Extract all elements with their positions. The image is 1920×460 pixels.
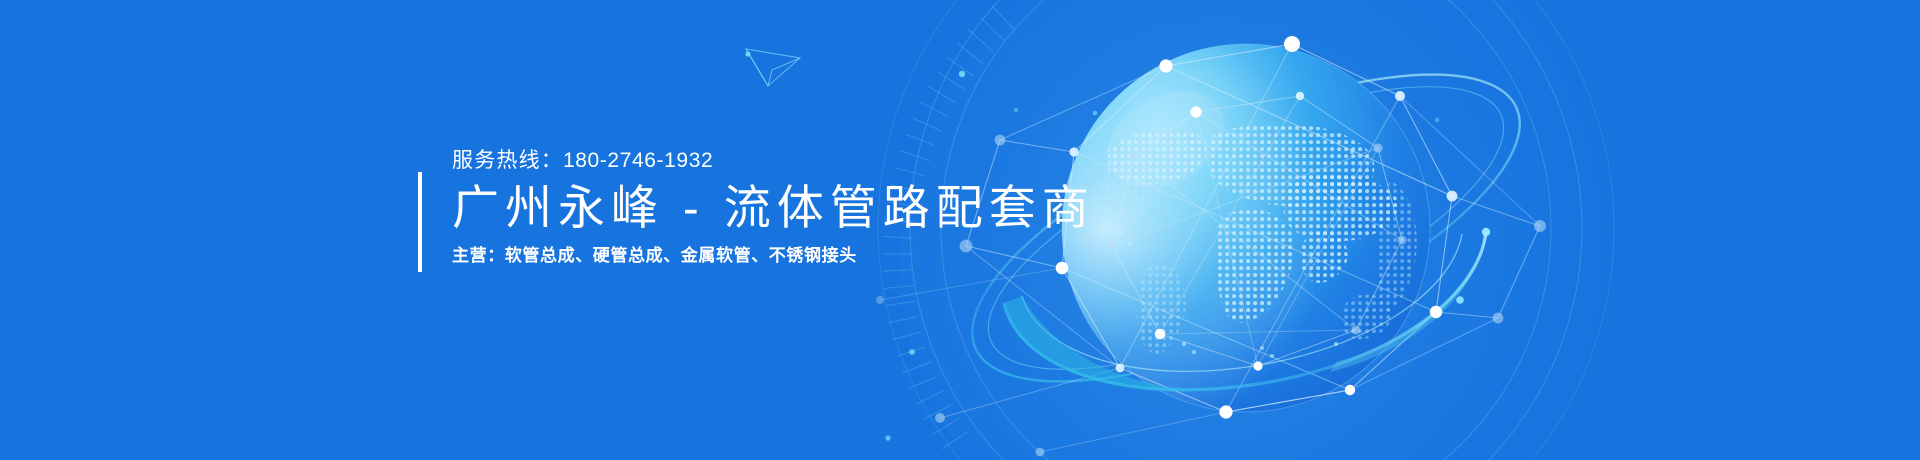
vertical-accent-bar-icon	[418, 172, 422, 272]
hero-text-block: 服务热线：180-2746-1932 广州永峰 - 流体管路配套商 主营：软管总…	[418, 150, 1095, 264]
hero-banner: 服务热线：180-2746-1932 广州永峰 - 流体管路配套商 主营：软管总…	[0, 0, 1920, 460]
product-tagline: 主营：软管总成、硬管总成、金属软管、不锈钢接头	[452, 247, 1095, 264]
globe-network-icon	[1062, 44, 1430, 412]
wireframe-triangle-icon	[746, 49, 800, 86]
page-title: 广州永峰 - 流体管路配套商	[452, 184, 1095, 231]
hotline-label: 服务热线：	[452, 149, 563, 172]
continent-dot-matrix	[1093, 123, 1417, 358]
service-hotline: 服务热线：180-2746-1932	[452, 150, 1095, 171]
hotline-number: 180-2746-1932	[563, 149, 713, 172]
